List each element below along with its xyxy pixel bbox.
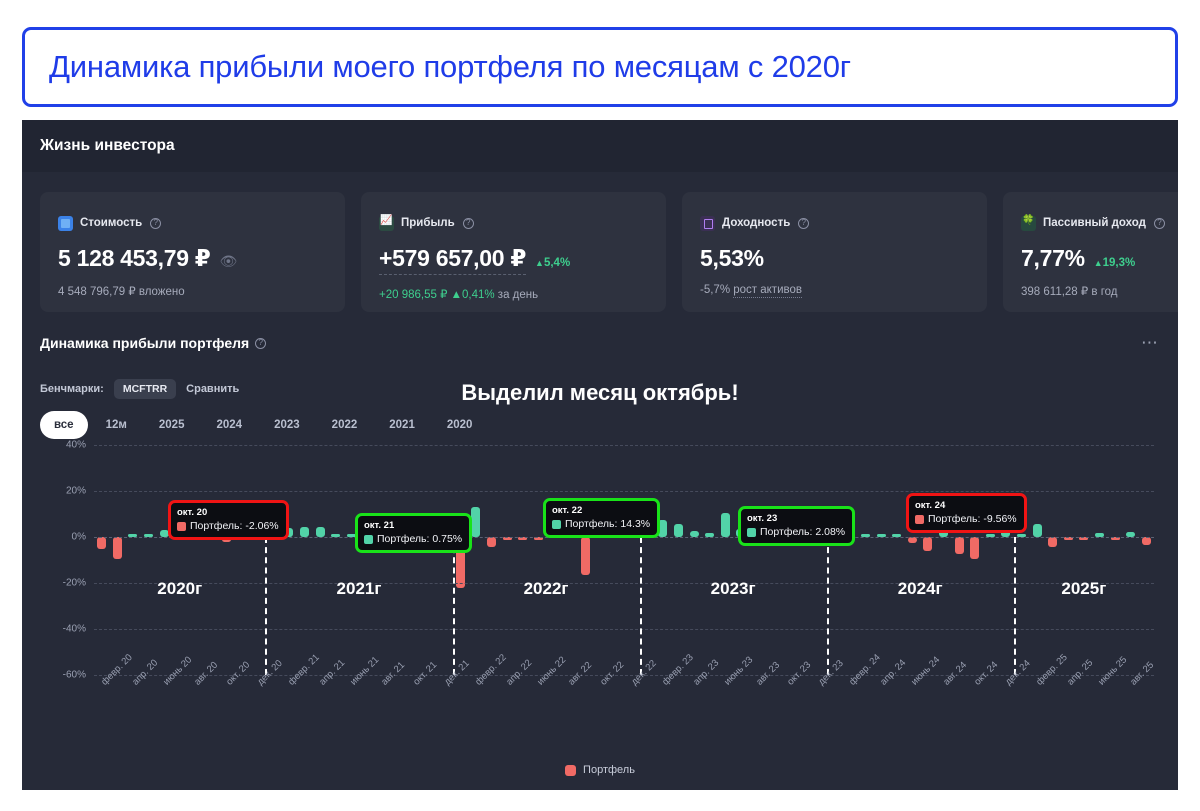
gridline <box>94 629 1154 630</box>
chart-panel: Динамика прибыли портфеля ? ⋯ Бенчмарки:… <box>22 330 1178 782</box>
stat-card-profit[interactable]: Прибыль ? +579 657,00 ₽ ▲5,4% +20 986,55… <box>361 192 666 312</box>
bar[interactable] <box>300 527 309 537</box>
year-group-label: 2021г <box>337 579 382 599</box>
chart-annotation-tooltip: окт. 21Портфель: 0.75% <box>355 513 472 553</box>
annotation-date: окт. 24 <box>915 500 1017 511</box>
square-blue-icon <box>58 216 73 231</box>
bar[interactable] <box>113 537 122 559</box>
annotation-swatch <box>364 535 373 544</box>
range-tab-2021[interactable]: 2021 <box>375 411 429 439</box>
question-icon[interactable]: ? <box>463 218 474 229</box>
question-icon[interactable]: ? <box>150 218 161 229</box>
annotation-text: Портфель: -2.06% <box>190 520 279 532</box>
bar[interactable] <box>923 537 932 551</box>
card-subtext: -5,7% рост активов <box>700 284 969 296</box>
title-banner: Динамика прибыли моего портфеля по месяц… <box>22 27 1178 107</box>
card-sub-tail: за день <box>498 289 538 301</box>
card-sub-amount: +20 986,55 ₽ <box>379 289 447 301</box>
card-sub-tail[interactable]: рост активов <box>733 284 802 298</box>
plot-area: 40%20%0%-20%-40%-60%2020г2021г2022г2023г… <box>94 445 1154 675</box>
bar[interactable] <box>721 513 730 537</box>
gridline <box>94 445 1154 446</box>
stat-card-passive-income[interactable]: Пассивный доход ? 7,77% ▲19,3% 398 611,2… <box>1003 192 1178 312</box>
card-sub-pct: 0,41% <box>462 289 495 301</box>
bar[interactable] <box>97 537 106 549</box>
annotation-row: Портфель: 14.3% <box>552 518 650 530</box>
annotation-swatch <box>747 528 756 537</box>
compare-button[interactable]: Сравнить <box>186 383 239 395</box>
bar[interactable] <box>1033 524 1042 537</box>
bar[interactable] <box>471 507 480 537</box>
benchmark-chip-mcftrr[interactable]: MCFTRR <box>114 379 176 399</box>
range-tab-2025[interactable]: 2025 <box>145 411 199 439</box>
briefcase-purple-icon <box>700 216 715 231</box>
ellipsis-icon[interactable]: ⋯ <box>1141 333 1160 353</box>
annotation-date: окт. 21 <box>364 520 462 531</box>
annotation-swatch <box>552 520 561 529</box>
card-header: Доходность ? <box>700 214 969 232</box>
annotation-row: Портфель: 2.08% <box>747 526 845 538</box>
annotation-text: Портфель: 14.3% <box>565 518 650 530</box>
gridline <box>94 583 1154 584</box>
dashboard-header: Жизнь инвестора <box>22 120 1178 172</box>
card-delta-value: 19,3% <box>1103 257 1136 269</box>
annotation-text: Портфель: -9.56% <box>928 513 1017 525</box>
stat-card-yield[interactable]: Доходность ? 5,53% -5,7% рост активов <box>682 192 987 312</box>
bar[interactable] <box>1142 537 1151 545</box>
x-axis-labels: февр. 20апр. 20июнь 20авг. 20окт. 20дек.… <box>94 677 1154 735</box>
year-group-label: 2025г <box>1061 579 1106 599</box>
annotation-row: Портфель: -2.06% <box>177 520 279 532</box>
year-group-label: 2020г <box>157 579 202 599</box>
card-main: 7,77% ▲19,3% <box>1021 245 1178 272</box>
card-header: Прибыль ? <box>379 214 648 232</box>
card-label: Пассивный доход <box>1043 217 1146 229</box>
chart-annotation-tooltip: окт. 24Портфель: -9.56% <box>906 493 1027 533</box>
card-label: Доходность <box>722 217 790 229</box>
y-axis-tick: -20% <box>63 578 86 589</box>
benchmarks-label: Бенчмарки: <box>40 383 104 395</box>
year-group-label: 2023г <box>711 579 756 599</box>
stat-card-value[interactable]: Стоимость ? 5 128 453,79 ₽ 👁 4 548 796,7… <box>40 192 345 312</box>
bar[interactable] <box>674 524 683 537</box>
clover-green-icon <box>1021 216 1036 231</box>
annotation-text: Портфель: 2.08% <box>760 526 845 538</box>
bar[interactable] <box>487 537 496 547</box>
annotation-row: Портфель: 0.75% <box>364 533 462 545</box>
card-value: 5,53% <box>700 245 764 272</box>
gridline <box>94 675 1154 676</box>
range-tab-2023[interactable]: 2023 <box>260 411 314 439</box>
caret-up-icon: ▲ <box>535 258 544 268</box>
annotation-text: Портфель: 0.75% <box>377 533 462 545</box>
card-delta: ▲19,3% <box>1094 257 1136 269</box>
range-tab-12м[interactable]: 12м <box>92 411 141 439</box>
annotation-row: Портфель: -9.56% <box>915 513 1017 525</box>
y-axis-tick: 20% <box>66 486 86 497</box>
stat-cards-row: Стоимость ? 5 128 453,79 ₽ 👁 4 548 796,7… <box>22 172 1178 312</box>
card-main: 5 128 453,79 ₽ 👁 <box>58 245 327 272</box>
y-axis-tick: 0% <box>72 532 86 543</box>
y-axis-tick: -60% <box>63 670 86 681</box>
card-subtext: 4 548 796,79 ₽ вложено <box>58 284 327 298</box>
card-main: +579 657,00 ₽ ▲5,4% <box>379 245 648 275</box>
card-subtext: 398 611,28 ₽ в год <box>1021 284 1178 298</box>
caret-up-icon: ▲ <box>451 289 462 301</box>
y-axis-tick: -40% <box>63 624 86 635</box>
card-value: 5 128 453,79 ₽ <box>58 245 211 272</box>
year-separator <box>1014 537 1016 675</box>
dashboard-panel: Жизнь инвестора Стоимость ? 5 128 453,79… <box>22 120 1178 790</box>
chart-legend: Портфель <box>22 764 1178 776</box>
card-delta-value: 5,4% <box>544 257 570 269</box>
bar[interactable] <box>581 537 590 575</box>
bars-layer <box>94 445 1154 675</box>
plot-wrapper: 40%20%0%-20%-40%-60%2020г2021г2022г2023г… <box>40 445 1160 745</box>
annotation-swatch <box>915 515 924 524</box>
chart-title: Динамика прибыли портфеля <box>40 335 249 351</box>
chart-annotation-tooltip: окт. 22Портфель: 14.3% <box>543 498 660 538</box>
benchmarks-row: Бенчмарки: MCFTRR Сравнить <box>40 378 1160 400</box>
chart-title-group: Динамика прибыли портфеля ? <box>40 335 266 351</box>
year-separator <box>640 537 642 675</box>
card-header: Стоимость ? <box>58 214 327 232</box>
chart-up-green-icon <box>379 216 394 231</box>
range-tab-все[interactable]: все <box>40 411 88 439</box>
legend-label: Портфель <box>583 764 635 776</box>
range-tab-2020[interactable]: 2020 <box>433 411 487 439</box>
card-main: 5,53% <box>700 245 969 272</box>
bar[interactable] <box>970 537 979 559</box>
card-value: +579 657,00 ₽ <box>379 245 526 275</box>
chart-header: Динамика прибыли портфеля ? ⋯ <box>40 330 1160 356</box>
legend-swatch <box>565 765 576 776</box>
caret-up-icon: ▲ <box>1094 258 1103 268</box>
card-header: Пассивный доход ? <box>1021 214 1178 232</box>
year-separator <box>453 537 455 675</box>
bar[interactable] <box>955 537 964 554</box>
range-tabs: все12м202520242023202220212020 <box>40 409 1160 441</box>
chart-annotation-tooltip: окт. 23Портфель: 2.08% <box>738 506 855 546</box>
dashboard-title: Жизнь инвестора <box>40 137 175 155</box>
question-icon[interactable]: ? <box>255 338 266 349</box>
year-separator <box>827 537 829 675</box>
card-subtext: +20 986,55 ₽ ▲0,41% за день <box>379 287 648 301</box>
card-value: 7,77% <box>1021 245 1085 272</box>
card-delta: ▲5,4% <box>535 257 570 269</box>
card-label: Стоимость <box>80 217 142 229</box>
year-group-label: 2024г <box>898 579 943 599</box>
year-separator <box>265 537 267 675</box>
annotation-date: окт. 23 <box>747 513 845 524</box>
chart-annotation-tooltip: окт. 20Портфель: -2.06% <box>168 500 289 540</box>
gridline <box>94 491 1154 492</box>
range-tab-2022[interactable]: 2022 <box>318 411 372 439</box>
range-tab-2024[interactable]: 2024 <box>202 411 256 439</box>
year-group-label: 2022г <box>524 579 569 599</box>
annotation-swatch <box>177 522 186 531</box>
eye-off-icon[interactable]: 👁 <box>220 253 238 270</box>
bar[interactable] <box>1048 537 1057 547</box>
page-title: Динамика прибыли моего портфеля по месяц… <box>49 49 851 85</box>
card-label: Прибыль <box>401 217 455 229</box>
annotation-date: окт. 22 <box>552 505 650 516</box>
card-sub-pct: -5,7% <box>700 284 730 296</box>
bar[interactable] <box>316 527 325 537</box>
question-icon[interactable]: ? <box>798 218 809 229</box>
question-icon[interactable]: ? <box>1154 218 1165 229</box>
y-axis-tick: 40% <box>66 440 86 451</box>
annotation-date: окт. 20 <box>177 507 279 518</box>
screenshot-root: Динамика прибыли моего портфеля по месяц… <box>0 0 1200 811</box>
